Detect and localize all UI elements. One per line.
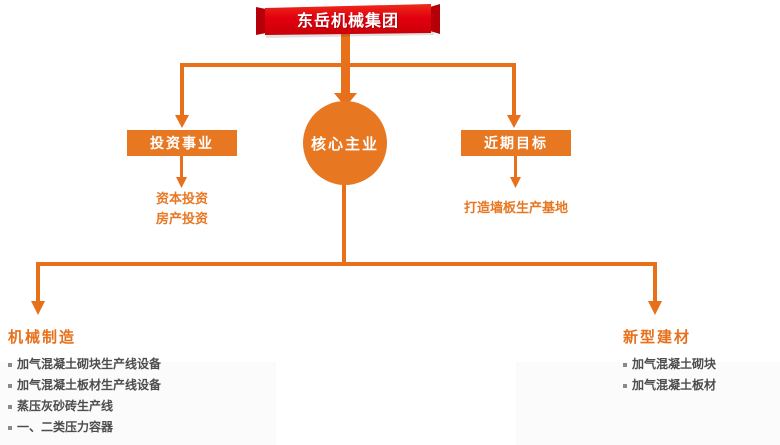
connector-core-to-bottom [342,184,346,266]
list-item: 加气混凝土砌块 [623,354,778,375]
org-chart-diagram: 东岳机械集团 投资事业 核心主业 近期目标 资本投资 房产投资 打造墙板生产基地… [0,0,780,445]
list-item-label: 一、二类压力容器 [17,417,113,438]
arrow-down-icon-left-branch [175,115,189,128]
connector-trunk-top [341,34,350,67]
sub-label-investment-line-2: 房产投资 [122,210,242,230]
bullet-square-icon [8,384,12,388]
connector-drop-bottom-right [653,262,657,304]
category-machinery-title: 机械制造 [8,326,276,347]
connector-drop-left [180,63,184,117]
list-item: 一、二类压力容器 [8,417,276,438]
category-machinery: 机械制造 加气混凝土砌块生产线设备 加气混凝土板材生产线设备 蒸压灰砂砖生产线 … [8,326,276,438]
node-core-business[interactable]: 核心主业 [303,101,387,185]
connector-bar-lower [36,262,657,266]
category-machinery-list: 加气混凝土砌块生产线设备 加气混凝土板材生产线设备 蒸压灰砂砖生产线 一、二类压… [8,354,276,438]
bullet-square-icon [8,363,12,367]
category-new-materials-title: 新型建材 [623,326,778,347]
connector-drop-center [341,63,350,96]
list-item: 蒸压灰砂砖生产线 [8,396,276,417]
category-new-materials: 新型建材 加气混凝土砌块 加气混凝土板材 [623,326,778,396]
list-item: 加气混凝土砌块生产线设备 [8,354,276,375]
company-banner-title: 东岳机械集团 [256,2,440,36]
sub-label-investment-line-1: 资本投资 [122,190,242,210]
sub-label-goal-line-1: 打造墙板生产基地 [436,199,596,219]
sub-label-goal: 打造墙板生产基地 [436,199,596,219]
bullet-square-icon [8,405,12,409]
list-item-label: 加气混凝土砌块生产线设备 [17,354,161,375]
connector-left-box-to-sub [180,156,183,180]
arrow-down-icon-right-branch [507,115,521,128]
connector-bar-upper [180,63,516,67]
arrow-down-icon-machinery [31,301,45,315]
list-item-label: 蒸压灰砂砖生产线 [17,396,113,417]
bullet-square-icon [8,426,12,430]
arrow-down-icon-left-sub [176,177,187,188]
list-item: 加气混凝土板材生产线设备 [8,375,276,396]
bullet-square-icon [623,363,627,367]
list-item-label: 加气混凝土板材 [632,375,716,396]
list-item: 加气混凝土板材 [623,375,778,396]
bullet-square-icon [623,384,627,388]
connector-drop-bottom-left [36,262,40,304]
sub-label-investment: 资本投资 房产投资 [122,190,242,230]
arrow-down-icon-new-materials [648,301,662,315]
list-item-label: 加气混凝土砌块 [632,354,716,375]
connector-right-box-to-sub [514,156,517,180]
arrow-down-icon-right-sub [510,177,521,188]
node-investment-business[interactable]: 投资事业 [127,130,237,156]
list-item-label: 加气混凝土板材生产线设备 [17,375,161,396]
node-near-term-goal[interactable]: 近期目标 [461,130,571,156]
company-banner: 东岳机械集团 [256,2,440,38]
category-new-materials-list: 加气混凝土砌块 加气混凝土板材 [623,354,778,396]
connector-drop-right [512,63,516,117]
